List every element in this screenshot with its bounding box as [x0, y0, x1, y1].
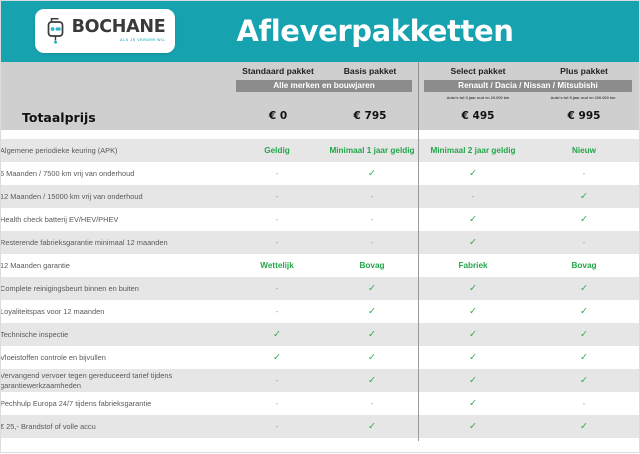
check-icon: ✓ [368, 306, 376, 317]
feature-label: Pechhulp Europa 24/7 tijdens fabrieksgar… [0, 392, 228, 415]
matrix-bottom-spacer [0, 438, 640, 454]
check-icon: ✓ [368, 421, 376, 432]
dash-icon: - [583, 169, 586, 178]
brandbar-left-group: Alle merken en bouwjaren [236, 80, 412, 92]
price-standaard: € 0 [228, 110, 328, 122]
table-row: 12 Maanden / 15000 km vrij van onderhoud… [0, 185, 640, 208]
group-divider [418, 62, 419, 130]
dash-icon: - [371, 238, 374, 247]
check-icon: ✓ [469, 398, 477, 409]
feature-label: Technische inspectie [0, 323, 228, 346]
matrix-top-spacer [0, 130, 640, 139]
cell-basis: ✓ [326, 300, 418, 323]
cell-basis: ✓ [326, 346, 418, 369]
cell-text: Fabriek [458, 261, 487, 270]
cell-select: ✓ [418, 415, 528, 438]
dash-icon: - [276, 215, 279, 224]
price-select: € 495 [428, 110, 528, 122]
cell-select: ✓ [418, 392, 528, 415]
cell-standaard: ✓ [228, 323, 326, 346]
check-icon: ✓ [580, 306, 588, 317]
table-row: Resterende fabrieksgarantie minimaal 12 … [0, 231, 640, 254]
dash-icon: - [276, 238, 279, 247]
cell-plus: - [528, 231, 640, 254]
cell-standaard: - [228, 162, 326, 185]
dash-icon: - [276, 376, 279, 385]
price-plus: € 995 [534, 110, 634, 122]
check-icon: ✓ [368, 168, 376, 179]
dash-icon: - [276, 307, 279, 316]
page-title: Afleverpakketten [0, 14, 640, 48]
feature-matrix-container: Algemene periodieke keuring (APK)GeldigM… [0, 130, 640, 453]
check-icon: ✓ [580, 375, 588, 386]
table-row: Technische inspectie✓✓✓✓ [0, 323, 640, 346]
check-icon: ✓ [368, 329, 376, 340]
cell-select: ✓ [418, 369, 528, 392]
cell-plus: - [528, 162, 640, 185]
table-row: € 25,- Brandstof of volle accu-✓✓✓ [0, 415, 640, 438]
cell-plus: Nieuw [528, 139, 640, 162]
table-row: Algemene periodieke keuring (APK)GeldigM… [0, 139, 640, 162]
cell-standaard: - [228, 208, 326, 231]
cell-text: Nieuw [572, 146, 596, 155]
cell-plus: ✓ [528, 208, 640, 231]
feature-matrix: Algemene periodieke keuring (APK)GeldigM… [0, 139, 640, 438]
package-name-basis: Basis pakket [326, 66, 414, 76]
dash-icon: - [276, 399, 279, 408]
cell-plus: ✓ [528, 277, 640, 300]
cell-select: ✓ [418, 346, 528, 369]
cell-plus: ✓ [528, 323, 640, 346]
cell-basis: - [326, 185, 418, 208]
check-icon: ✓ [469, 214, 477, 225]
dash-icon: - [472, 192, 475, 201]
cell-standaard: - [228, 369, 326, 392]
check-icon: ✓ [469, 283, 477, 294]
check-icon: ✓ [368, 375, 376, 386]
check-icon: ✓ [580, 191, 588, 202]
check-icon: ✓ [368, 352, 376, 363]
check-icon: ✓ [469, 375, 477, 386]
cell-standaard: ✓ [228, 346, 326, 369]
table-row: Vloeistoffen controle en bijvullen✓✓✓✓ [0, 346, 640, 369]
cell-select: - [418, 185, 528, 208]
cell-plus: ✓ [528, 346, 640, 369]
check-icon: ✓ [368, 283, 376, 294]
cell-plus: ✓ [528, 300, 640, 323]
cell-select: Minimaal 2 jaar geldig [418, 139, 528, 162]
check-icon: ✓ [469, 421, 477, 432]
total-price-label: Totaalprijs [22, 110, 96, 125]
cell-select: ✓ [418, 231, 528, 254]
table-row: 12 Maanden garantieWettelijkBovagFabriek… [0, 254, 640, 277]
cell-text: Bovag [571, 261, 596, 270]
cell-standaard: - [228, 231, 326, 254]
feature-label: Vervangend vervoer tegen gereduceerd tar… [0, 369, 228, 392]
dash-icon: - [276, 284, 279, 293]
cell-basis: ✓ [326, 162, 418, 185]
check-icon: ✓ [580, 421, 588, 432]
cell-select: ✓ [418, 162, 528, 185]
cell-basis: ✓ [326, 415, 418, 438]
table-row: Vervangend vervoer tegen gereduceerd tar… [0, 369, 640, 392]
package-note-plus: Auto's tot 5 jaar oud en 100.000 km [530, 95, 636, 100]
check-icon: ✓ [469, 237, 477, 248]
cell-select: ✓ [418, 300, 528, 323]
dash-icon: - [583, 399, 586, 408]
cell-select: ✓ [418, 277, 528, 300]
check-icon: ✓ [469, 329, 477, 340]
package-note-select: Auto's tot 3 jaar oud en 20.000 km [426, 95, 530, 100]
feature-label: € 25,- Brandstof of volle accu [0, 415, 228, 438]
cell-text: Wettelijk [260, 261, 294, 270]
check-icon: ✓ [273, 352, 281, 363]
check-icon: ✓ [580, 214, 588, 225]
cell-select: Fabriek [418, 254, 528, 277]
cell-plus: - [528, 392, 640, 415]
dash-icon: - [276, 169, 279, 178]
dash-icon: - [276, 192, 279, 201]
check-icon: ✓ [580, 329, 588, 340]
check-icon: ✓ [469, 168, 477, 179]
cell-basis: ✓ [326, 277, 418, 300]
cell-text: Minimaal 1 jaar geldig [329, 146, 414, 155]
cell-basis: - [326, 392, 418, 415]
price-basis: € 795 [326, 110, 414, 122]
cell-text: Bovag [359, 261, 384, 270]
feature-label: 12 Maanden garantie [0, 254, 228, 277]
cell-basis: - [326, 231, 418, 254]
feature-label: 12 Maanden / 15000 km vrij van onderhoud [0, 185, 228, 208]
feature-label: Algemene periodieke keuring (APK) [0, 139, 228, 162]
table-row: Complete reinigingsbeurt binnen en buite… [0, 277, 640, 300]
dash-icon: - [371, 399, 374, 408]
package-name-plus: Plus pakket [534, 66, 634, 76]
table-row: Health check batterij EV/HEV/PHEV--✓✓ [0, 208, 640, 231]
cell-basis: ✓ [326, 323, 418, 346]
package-name-row: Standaard pakket Basis pakket Select pak… [0, 66, 640, 80]
feature-label: 6 Maanden / 7500 km vrij van onderhoud [0, 162, 228, 185]
check-icon: ✓ [580, 352, 588, 363]
cell-plus: Bovag [528, 254, 640, 277]
dash-icon: - [276, 422, 279, 431]
cell-standaard: - [228, 300, 326, 323]
dash-icon: - [371, 192, 374, 201]
table-row: Pechhulp Europa 24/7 tijdens fabrieksgar… [0, 392, 640, 415]
dash-icon: - [371, 215, 374, 224]
cell-basis: ✓ [326, 369, 418, 392]
column-header-block: Standaard pakket Basis pakket Select pak… [0, 62, 640, 130]
feature-label: Complete reinigingsbeurt binnen en buite… [0, 277, 228, 300]
cell-plus: ✓ [528, 369, 640, 392]
cell-text: Minimaal 2 jaar geldig [430, 146, 515, 155]
dash-icon: - [583, 238, 586, 247]
cell-standaard: - [228, 392, 326, 415]
table-row: Loyaliteitspas voor 12 maanden-✓✓✓ [0, 300, 640, 323]
cell-standaard: Wettelijk [228, 254, 326, 277]
check-icon: ✓ [580, 283, 588, 294]
cell-select: ✓ [418, 208, 528, 231]
table-row: 6 Maanden / 7500 km vrij van onderhoud-✓… [0, 162, 640, 185]
check-icon: ✓ [469, 352, 477, 363]
cell-standaard: - [228, 185, 326, 208]
package-name-select: Select pakket [428, 66, 528, 76]
package-name-standaard: Standaard pakket [228, 66, 328, 76]
feature-label: Vloeistoffen controle en bijvullen [0, 346, 228, 369]
cell-basis: - [326, 208, 418, 231]
brandbar-right-group: Renault / Dacia / Nissan / Mitsubishi [424, 80, 632, 92]
check-icon: ✓ [469, 306, 477, 317]
cell-plus: ✓ [528, 185, 640, 208]
feature-label: Resterende fabrieksgarantie minimaal 12 … [0, 231, 228, 254]
cell-standaard: - [228, 277, 326, 300]
cell-standaard: - [228, 415, 326, 438]
page-banner: BOCHANE ALS JE VERDER WIL Afleverpakkett… [0, 0, 640, 62]
cell-standaard: Geldig [228, 139, 326, 162]
feature-label: Health check batterij EV/HEV/PHEV [0, 208, 228, 231]
cell-plus: ✓ [528, 415, 640, 438]
check-icon: ✓ [273, 329, 281, 340]
total-price-row: Totaalprijs € 0 € 795 € 495 € 995 [0, 110, 640, 126]
feature-label: Loyaliteitspas voor 12 maanden [0, 300, 228, 323]
cell-select: ✓ [418, 323, 528, 346]
cell-basis: Bovag [326, 254, 418, 277]
cell-text: Geldig [264, 146, 289, 155]
cell-basis: Minimaal 1 jaar geldig [326, 139, 418, 162]
